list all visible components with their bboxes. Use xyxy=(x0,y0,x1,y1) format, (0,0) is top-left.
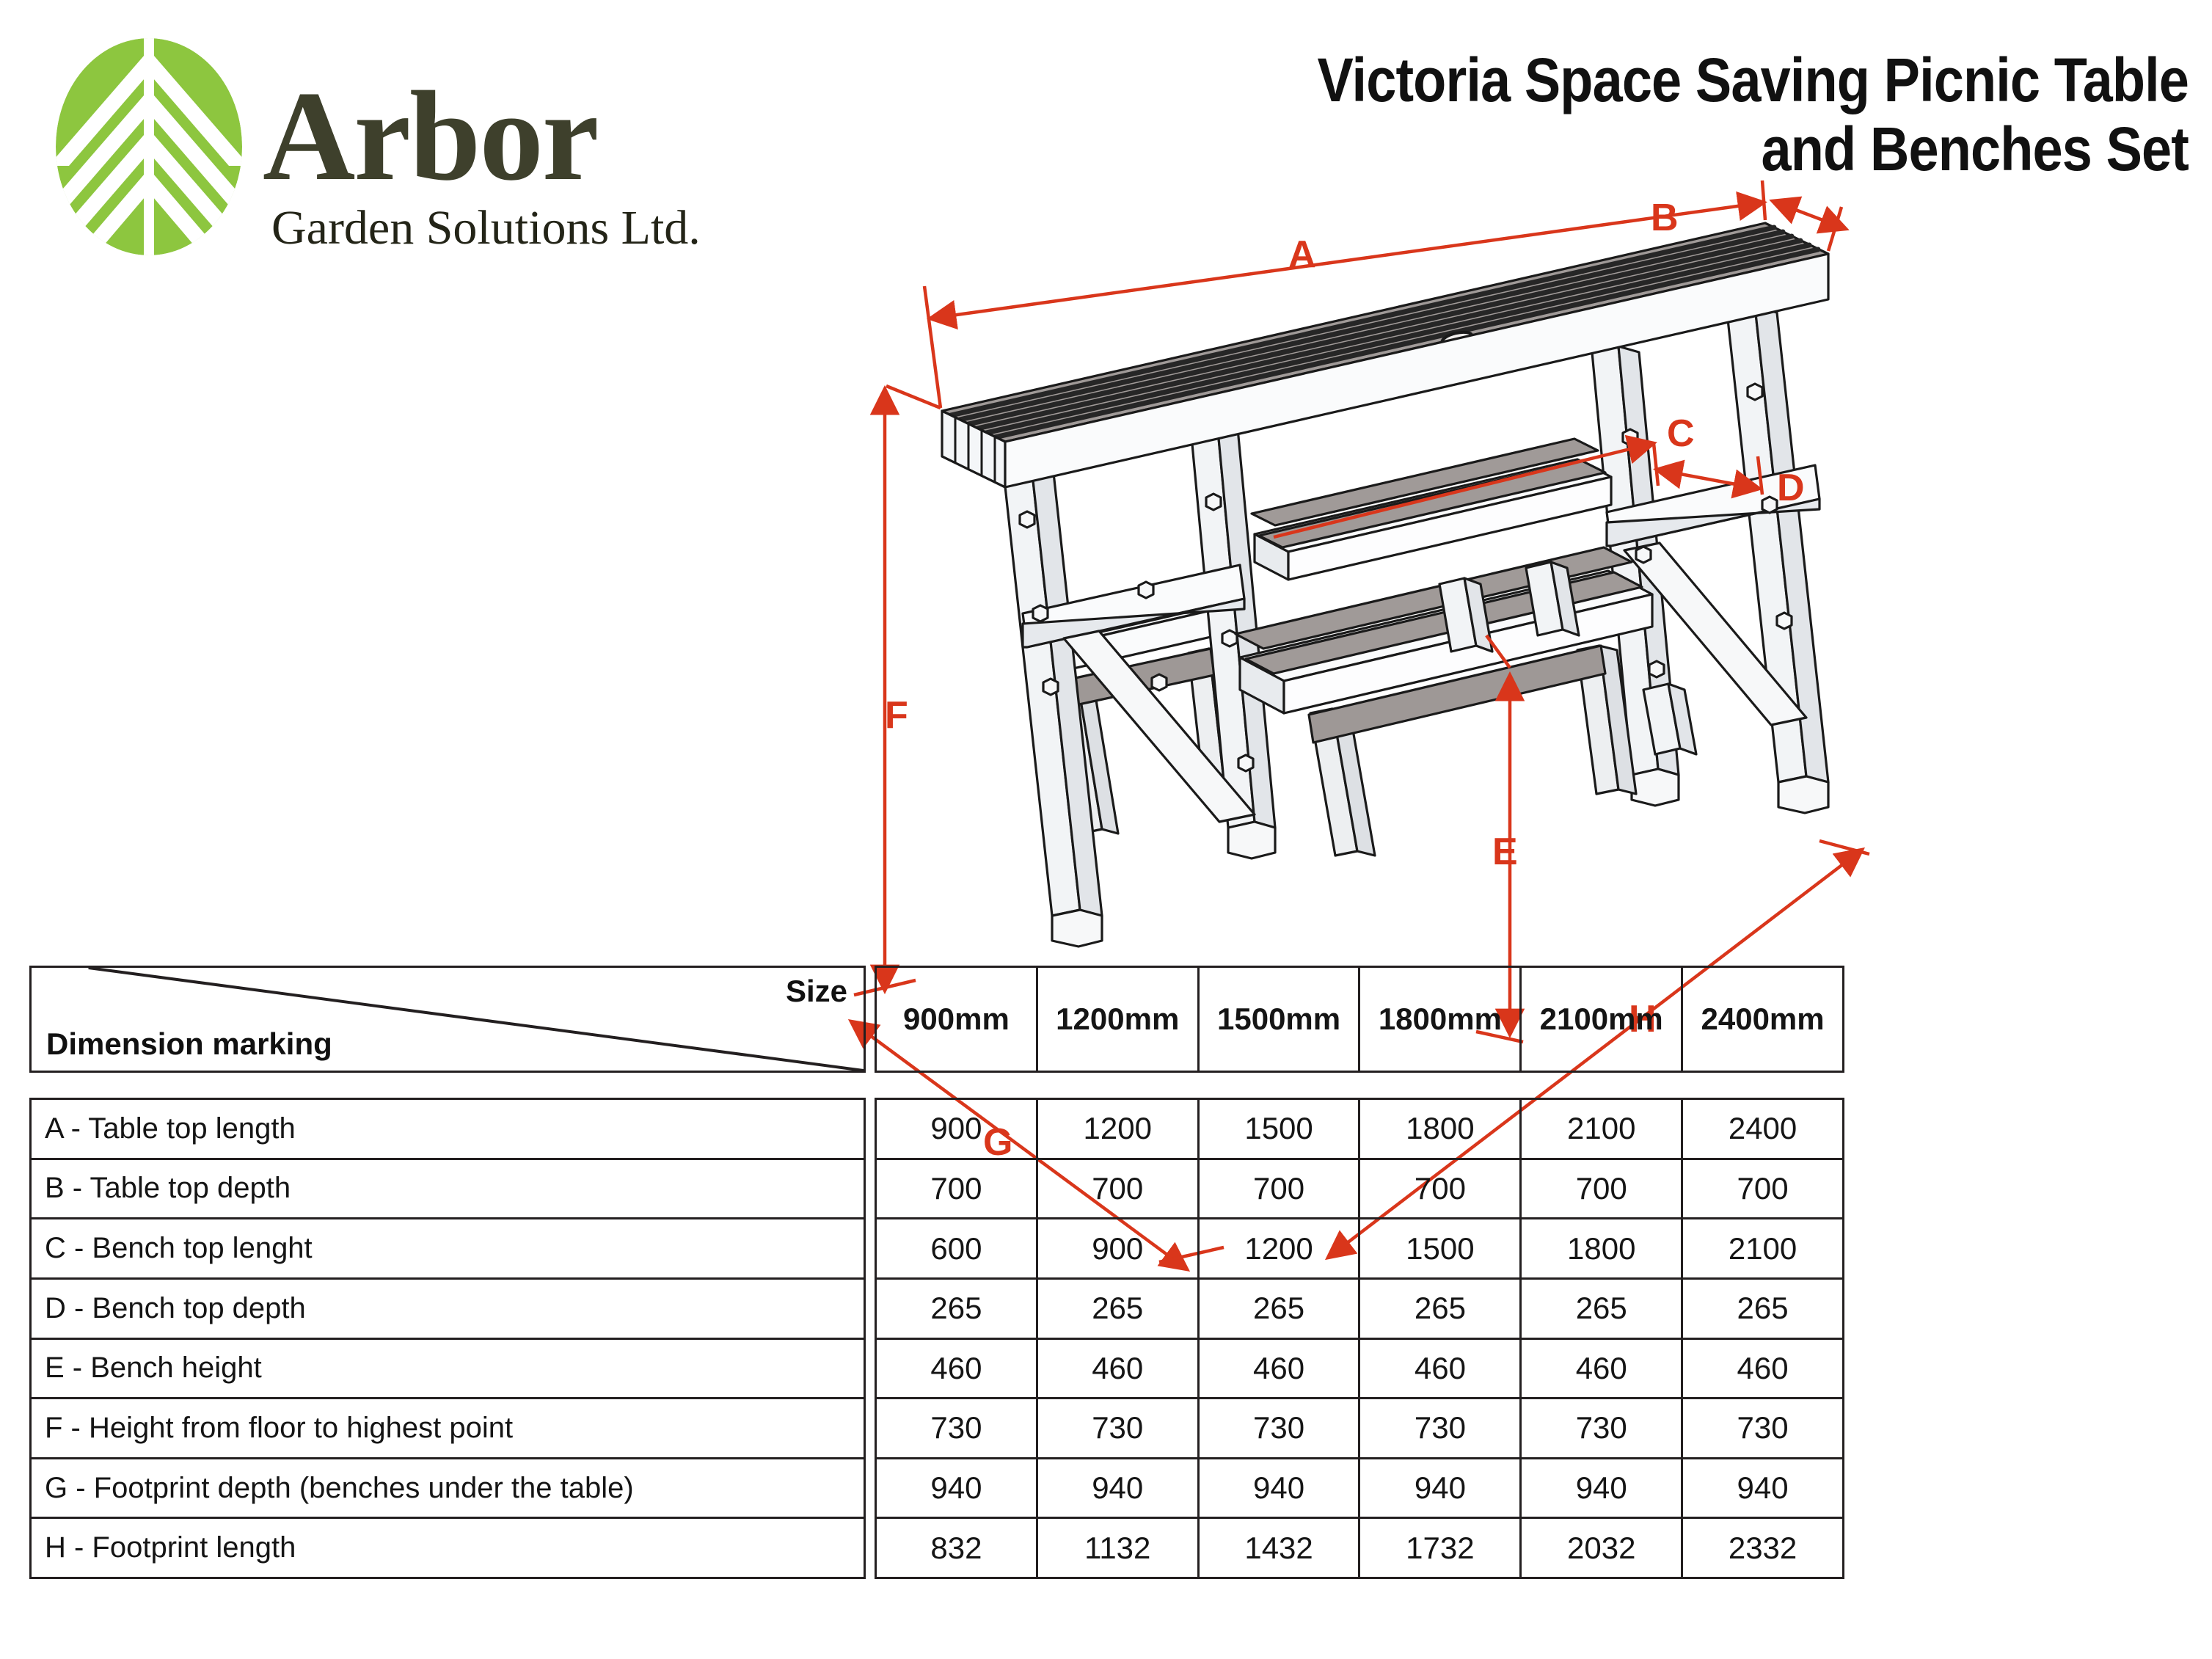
dimension-value-cell: 265 xyxy=(1521,1278,1682,1338)
size-column-header: 900mm xyxy=(876,967,1037,1072)
dimension-value-cell: 700 xyxy=(1198,1159,1359,1219)
dimension-value-cell: 730 xyxy=(1198,1399,1359,1459)
table-row: 460460460460460460 xyxy=(876,1338,1844,1399)
dimension-label-A: A xyxy=(1288,233,1316,276)
table-row: 6009001200150018002100 xyxy=(876,1219,1844,1279)
dimension-label-C: C xyxy=(1667,412,1695,455)
dimension-value-cell: 1800 xyxy=(1521,1219,1682,1279)
spec-table-corner-header: Size Dimension marking xyxy=(29,966,866,1073)
dimension-value-cell: 460 xyxy=(1359,1338,1521,1399)
dimension-label-B: B xyxy=(1651,197,1679,239)
dimension-value-cell: 1432 xyxy=(1198,1518,1359,1578)
dimension-value-cell: 940 xyxy=(1359,1458,1521,1518)
dimension-value-cell: 265 xyxy=(1198,1278,1359,1338)
dimension-value-cell: 2400 xyxy=(1682,1099,1844,1159)
dimension-value-cell: 460 xyxy=(1198,1338,1359,1399)
brand-tagline: Garden Solutions Ltd. xyxy=(271,204,701,252)
leaf-icon xyxy=(43,37,255,257)
dimension-value-cell: 1200 xyxy=(1198,1219,1359,1279)
dimension-value-cell: 700 xyxy=(1682,1159,1844,1219)
dimension-value-cell: 1132 xyxy=(1037,1518,1198,1578)
dimension-value-cell: 730 xyxy=(1682,1399,1844,1459)
table-row: C - Bench top lenght xyxy=(31,1219,865,1279)
table-row: E - Bench height xyxy=(31,1338,865,1399)
dimension-value-cell: 1200 xyxy=(1037,1099,1198,1159)
dimension-value-cell: 460 xyxy=(1682,1338,1844,1399)
table-row: 940940940940940940 xyxy=(876,1458,1844,1518)
dimension-value-cell: 2032 xyxy=(1521,1518,1682,1578)
dimension-row-label: C - Bench top lenght xyxy=(31,1219,865,1279)
table-row: 90012001500180021002400 xyxy=(876,1099,1844,1159)
table-row: D - Bench top depth xyxy=(31,1278,865,1338)
dimension-value-cell: 730 xyxy=(1359,1399,1521,1459)
dimension-value-cell: 700 xyxy=(1521,1159,1682,1219)
product-technical-drawing: A B C D E F G H xyxy=(844,169,2208,976)
dimension-label-F: F xyxy=(885,694,908,737)
dimension-value-cell: 940 xyxy=(1521,1458,1682,1518)
dimension-value-cell: 940 xyxy=(1198,1458,1359,1518)
dimension-row-label: H - Footprint length xyxy=(31,1518,865,1578)
size-column-header: 2100mm xyxy=(1521,967,1682,1072)
table-top xyxy=(942,223,1828,487)
spec-table-row-labels: A - Table top lengthB - Table top depthC… xyxy=(29,1098,866,1579)
size-column-header: 1500mm xyxy=(1198,967,1359,1072)
dimension-value-cell: 1732 xyxy=(1359,1518,1521,1578)
spec-table-size-headers: 900mm1200mm1500mm1800mm2100mm2400mm xyxy=(875,966,1844,1073)
table-row: H - Footprint length xyxy=(31,1518,865,1578)
dimension-row-label: E - Bench height xyxy=(31,1338,865,1399)
dimension-row-label: A - Table top length xyxy=(31,1099,865,1159)
dimension-label-D: D xyxy=(1777,467,1805,509)
corner-size-label: Size xyxy=(786,974,847,1009)
table-row: B - Table top depth xyxy=(31,1159,865,1219)
brand-name: Arbor xyxy=(263,72,598,200)
dimension-value-cell: 940 xyxy=(876,1458,1037,1518)
dimension-label-E: E xyxy=(1492,831,1518,873)
dimension-value-cell: 700 xyxy=(876,1159,1037,1219)
dimension-value-cell: 1800 xyxy=(1359,1099,1521,1159)
table-row: F - Height from floor to highest point xyxy=(31,1399,865,1459)
dimension-value-cell: 730 xyxy=(1037,1399,1198,1459)
dimension-value-cell: 265 xyxy=(1359,1278,1521,1338)
table-row: A - Table top length xyxy=(31,1099,865,1159)
dimension-value-cell: 600 xyxy=(876,1219,1037,1279)
dimension-value-cell: 940 xyxy=(1682,1458,1844,1518)
dimension-row-label: D - Bench top depth xyxy=(31,1278,865,1338)
size-column-header: 1800mm xyxy=(1359,967,1521,1072)
dimension-row-label: B - Table top depth xyxy=(31,1159,865,1219)
dimension-value-cell: 700 xyxy=(1037,1159,1198,1219)
dimension-value-cell: 265 xyxy=(1682,1278,1844,1338)
dimension-value-cell: 265 xyxy=(876,1278,1037,1338)
dimension-value-cell: 2100 xyxy=(1521,1099,1682,1159)
dimension-row-label: G - Footprint depth (benches under the t… xyxy=(31,1458,865,1518)
dimension-value-cell: 265 xyxy=(1037,1278,1198,1338)
brand-logo: Arbor Garden Solutions Ltd. xyxy=(43,37,703,308)
spec-table-values: 9001200150018002100240070070070070070070… xyxy=(875,1098,1844,1579)
table-row: 700700700700700700 xyxy=(876,1159,1844,1219)
page-title: Victoria Space Saving Picnic Table and B… xyxy=(1091,45,2189,183)
dimension-value-cell: 730 xyxy=(876,1399,1037,1459)
dimension-value-cell: 700 xyxy=(1359,1159,1521,1219)
dimension-B-line xyxy=(1773,201,1846,229)
dimension-value-cell: 900 xyxy=(876,1099,1037,1159)
table-row: G - Footprint depth (benches under the t… xyxy=(31,1458,865,1518)
size-column-header: 2400mm xyxy=(1682,967,1844,1072)
dimension-value-cell: 460 xyxy=(1037,1338,1198,1399)
dimension-value-cell: 1500 xyxy=(1198,1099,1359,1159)
dimension-row-label: F - Height from floor to highest point xyxy=(31,1399,865,1459)
dimension-value-cell: 460 xyxy=(1521,1338,1682,1399)
dimension-value-cell: 460 xyxy=(876,1338,1037,1399)
dimension-value-cell: 940 xyxy=(1037,1458,1198,1518)
dimension-value-cell: 2332 xyxy=(1682,1518,1844,1578)
title-line-1: Victoria Space Saving Picnic Table xyxy=(1091,45,2189,114)
dimension-value-cell: 730 xyxy=(1521,1399,1682,1459)
corner-dimension-label: Dimension marking xyxy=(46,1027,332,1062)
corner-cell: Size Dimension marking xyxy=(31,967,865,1072)
dimension-value-cell: 900 xyxy=(1037,1219,1198,1279)
dimension-value-cell: 1500 xyxy=(1359,1219,1521,1279)
dimension-value-cell: 832 xyxy=(876,1518,1037,1578)
table-row: 83211321432173220322332 xyxy=(876,1518,1844,1578)
size-column-header: 1200mm xyxy=(1037,967,1198,1072)
table-row: 730730730730730730 xyxy=(876,1399,1844,1459)
table-row: 265265265265265265 xyxy=(876,1278,1844,1338)
dimension-value-cell: 2100 xyxy=(1682,1219,1844,1279)
